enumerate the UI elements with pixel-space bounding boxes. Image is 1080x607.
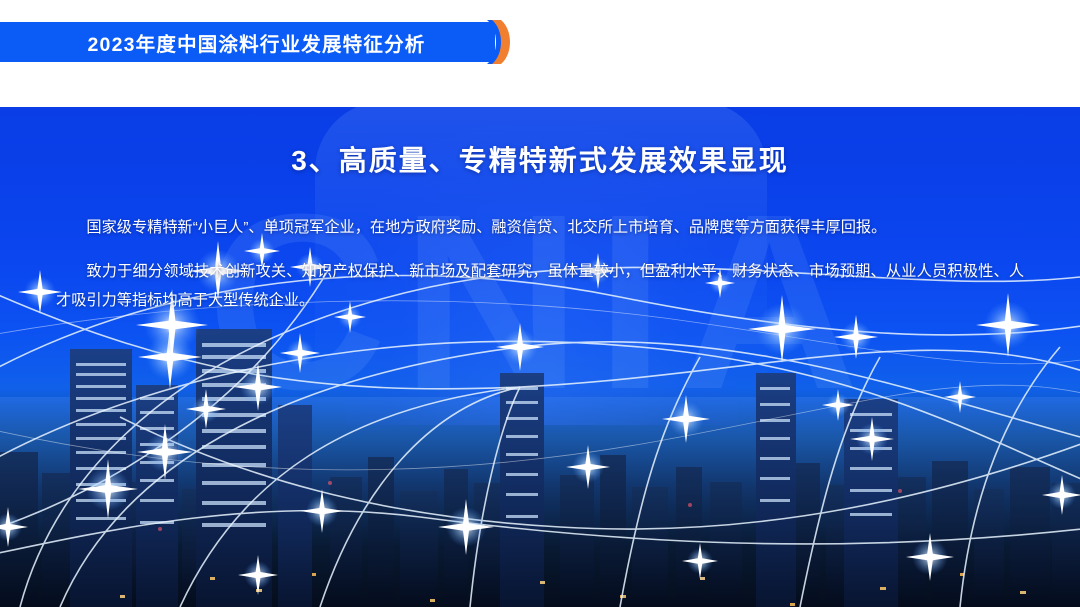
body-text-block: 国家级专精特新“小巨人”、单项冠军企业，在地方政府奖励、融资信贷、北交所上市培育… [0, 179, 1080, 316]
paragraph-2: 致力于细分领域技术创新攻关、知识产权保护、新市场及配套研究，虽体量较小，但盈利水… [56, 257, 1024, 316]
slide-text-layer: 3、高质量、专精特新式发展效果显现 国家级专精特新“小巨人”、单项冠军企业，在地… [0, 107, 1080, 330]
slide-canvas: 2023年度中国涂料行业发展特征分析 CNIA [0, 0, 1080, 607]
slide-content-area: CNIA [0, 107, 1080, 607]
header-title: 2023年度中国涂料行业发展特征分析 [0, 22, 495, 62]
paragraph-1: 国家级专精特新“小巨人”、单项冠军企业，在地方政府奖励、融资信贷、北交所上市培育… [56, 213, 1024, 243]
header-band: 2023年度中国涂料行业发展特征分析 [0, 22, 510, 62]
page-title: 3、高质量、专精特新式发展效果显现 [0, 107, 1080, 179]
